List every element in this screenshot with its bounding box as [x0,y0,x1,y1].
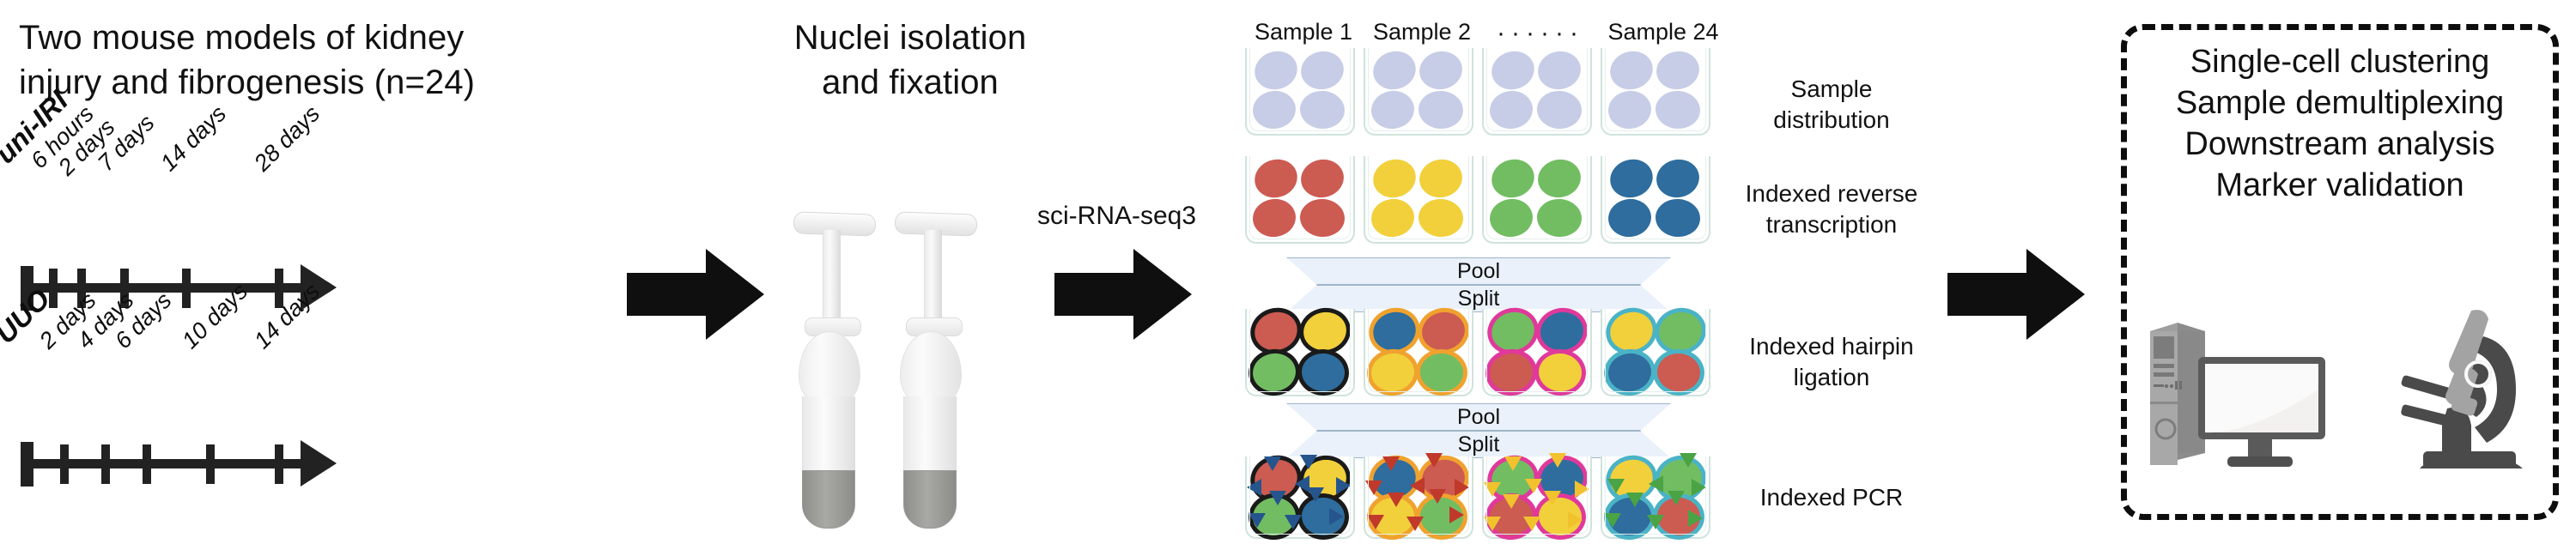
axis-tick [206,444,215,484]
analysis-text-block: Single-cell clustering Sample demultiple… [2129,41,2550,206]
pcr-primer-marker [1388,493,1405,507]
pcr-primer-marker [1382,456,1400,471]
dounce-homogenizer-icon [788,213,891,530]
pcr-primer-marker [1264,456,1281,471]
plate [1482,48,1592,136]
pcr-primer-marker [1406,517,1424,531]
pcr-primer-marker [1429,489,1446,504]
band-split: Split [1286,431,1671,458]
pcr-primer-marker [1549,453,1566,468]
nuclei-heading-line2: and fixation [756,60,1065,105]
pcr-primer-marker [1688,510,1703,527]
pcr-primer-marker [1336,477,1351,494]
pcr-primer-marker [1503,494,1520,509]
analysis-line: Downstream analysis [2129,124,2550,165]
stage-label-line: Indexed PCR [1733,482,1930,513]
stage-label-indexed-rt: Indexed reverse transcription [1733,178,1930,240]
pcr-primer-marker [1455,479,1469,496]
pcr-primer-marker [1568,511,1583,529]
pcr-primer-marker [1307,487,1324,502]
plate [1245,48,1355,136]
stage-label-line: Indexed reverse [1733,178,1930,209]
plate [1364,156,1473,244]
plate [1245,156,1355,244]
sample-header: Sample 24 [1599,19,1728,45]
pcr-primer-marker [1295,475,1309,493]
axis-tick [275,444,283,484]
stage-label-indexed-pcr: Indexed PCR [1733,482,1930,513]
analysis-line: Marker validation [2129,165,2550,206]
pcr-primer-marker [1367,515,1384,529]
pcr-primer-marker [1525,479,1542,493]
pcr-primer-marker [1692,479,1706,496]
axis-arrowhead [301,440,337,487]
axis-tick [101,444,110,484]
flow-arrow-3 [1947,249,2085,340]
models-heading-line1: Two mouse models of kidney [19,15,464,60]
analysis-line: Single-cell clustering [2129,41,2550,82]
sample-header: Sample 1 [1243,19,1364,45]
pcr-primer-marker [1329,508,1344,525]
timepoint-label: 28 days [249,100,325,177]
plate [1364,48,1473,136]
pcr-primer-marker [1668,491,1685,505]
plate [1364,456,1473,539]
plate [1601,456,1710,539]
pcr-primer-marker [1604,513,1621,528]
sci-rna-seq3-panel: Sample 1 Sample 2 ······ Sample 24 [1236,0,1769,544]
flow-arrow-1 [627,249,764,340]
sample-header-ellipsis: ······ [1480,19,1601,48]
plate [1482,156,1592,244]
pcr-primer-marker [1300,455,1317,469]
plate [1245,309,1355,396]
plate [1364,309,1473,396]
pcr-primer-marker [1269,491,1286,505]
workflow-diagram: Two mouse models of kidney injury and fi… [0,0,2576,544]
plate [1601,309,1710,396]
stage-label-sample-distribution: Sample distribution [1741,74,1922,136]
sample-header: Sample 2 [1362,19,1482,45]
analysis-line: Sample demultiplexing [2129,82,2550,124]
pcr-primer-marker [1365,481,1382,495]
desktop-computer-icon [2138,316,2361,487]
pcr-primer-marker [1680,453,1697,468]
stage-label-indexed-hairpin-ligation: Indexed hairpin ligation [1733,331,1930,393]
pcr-primer-marker [1249,513,1266,528]
pcr-primer-marker [1626,493,1643,507]
pcr-primer-marker [1247,479,1261,496]
axis-tick [60,444,69,484]
stage-label-line: ligation [1733,362,1930,393]
pcr-primer-marker [1607,479,1625,493]
dounce-homogenizer-icon [890,213,993,530]
method-label: sci-RNA-seq3 [1037,202,1196,231]
stage-label-line: Sample [1741,74,1922,105]
axis-origin-tick [21,442,33,487]
axis-tick [143,444,151,484]
band-pool: Pool [1286,403,1671,431]
stage-label-line: Indexed hairpin [1733,331,1930,362]
plate [1482,309,1592,396]
stage-label-line: transcription [1733,209,1930,240]
pcr-primer-marker [1449,506,1464,523]
timepoint-label: 14 days [155,100,232,177]
pcr-primer-marker [1504,456,1522,471]
axis-tick [182,269,191,308]
pcr-primer-marker [1649,475,1663,493]
stage-label-line: distribution [1741,105,1922,136]
nuclei-heading-line1: Nuclei isolation [756,15,1065,60]
pcr-primer-marker [1647,515,1664,529]
plate [1601,48,1710,136]
flow-arrow-2 [1054,249,1192,340]
pcr-primer-marker [1484,517,1501,531]
pcr-primer-marker [1425,453,1443,468]
pcr-primer-marker [1484,482,1501,497]
microscope-icon [2370,300,2542,489]
plate [1482,456,1592,539]
pcr-primer-marker [1544,491,1561,505]
pcr-primer-marker [1410,477,1425,494]
pcr-primer-marker [1575,481,1589,498]
plate [1245,456,1355,539]
band-pool: Pool [1286,257,1671,285]
pcr-primer-marker [1285,515,1302,529]
models-heading-line2: injury and fibrogenesis (n=24) [19,60,475,105]
plate [1601,156,1710,244]
pcr-primer-marker [1523,517,1540,531]
